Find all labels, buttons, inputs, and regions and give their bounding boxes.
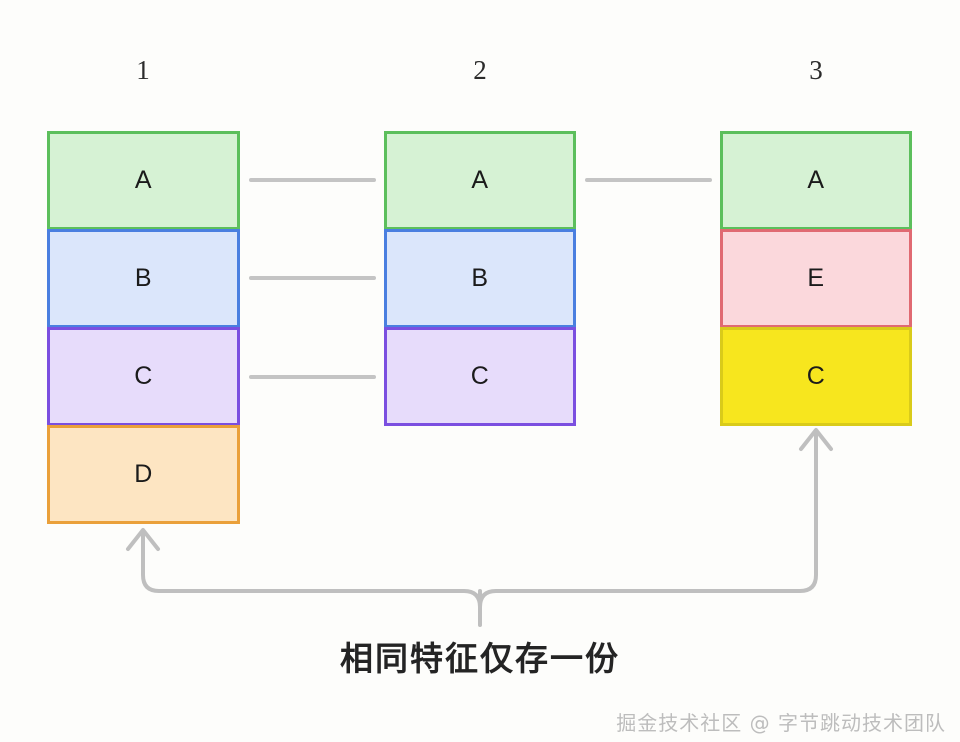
block-label: A bbox=[135, 168, 152, 193]
block-label: A bbox=[807, 168, 824, 193]
block-2-a[interactable]: A bbox=[384, 131, 576, 230]
column-header-1: 1 bbox=[113, 57, 173, 84]
block-label: E bbox=[807, 266, 824, 291]
block-3-e[interactable]: E bbox=[720, 229, 912, 328]
link-b-col1-col2 bbox=[249, 276, 376, 280]
dedup-arrow-right-path bbox=[480, 434, 816, 607]
block-2-b[interactable]: B bbox=[384, 229, 576, 328]
block-label: B bbox=[471, 266, 488, 291]
dedup-arrowhead-left bbox=[128, 530, 158, 549]
diagram-canvas: 1 2 3 A B C D A B C A E bbox=[0, 0, 960, 742]
dedup-arrowhead-right bbox=[801, 430, 831, 449]
block-1-a[interactable]: A bbox=[47, 131, 240, 230]
link-a-col1-col2 bbox=[249, 178, 376, 182]
block-1-b[interactable]: B bbox=[47, 229, 240, 328]
dedup-caption: 相同特征仅存一份 bbox=[0, 632, 960, 680]
block-3-c[interactable]: C bbox=[720, 327, 912, 426]
link-c-col1-col2 bbox=[249, 375, 376, 379]
watermark: 掘金技术社区 @ 字节跳动技术团队 bbox=[616, 707, 946, 736]
dedup-arrow-left-path bbox=[143, 534, 480, 607]
block-label: D bbox=[134, 462, 153, 487]
block-label: C bbox=[134, 364, 153, 389]
block-3-a[interactable]: A bbox=[720, 131, 912, 230]
block-1-c[interactable]: C bbox=[47, 327, 240, 426]
block-label: B bbox=[135, 266, 152, 291]
version-column-3: A E C bbox=[720, 131, 912, 426]
block-label: A bbox=[471, 168, 488, 193]
version-column-2: A B C bbox=[384, 131, 576, 426]
block-label: C bbox=[471, 364, 490, 389]
column-header-3: 3 bbox=[786, 57, 846, 84]
block-2-c[interactable]: C bbox=[384, 327, 576, 426]
block-label: C bbox=[807, 364, 826, 389]
link-a-col2-col3 bbox=[585, 178, 712, 182]
column-header-2: 2 bbox=[450, 57, 510, 84]
block-1-d[interactable]: D bbox=[47, 425, 240, 524]
version-column-1: A B C D bbox=[47, 131, 240, 524]
